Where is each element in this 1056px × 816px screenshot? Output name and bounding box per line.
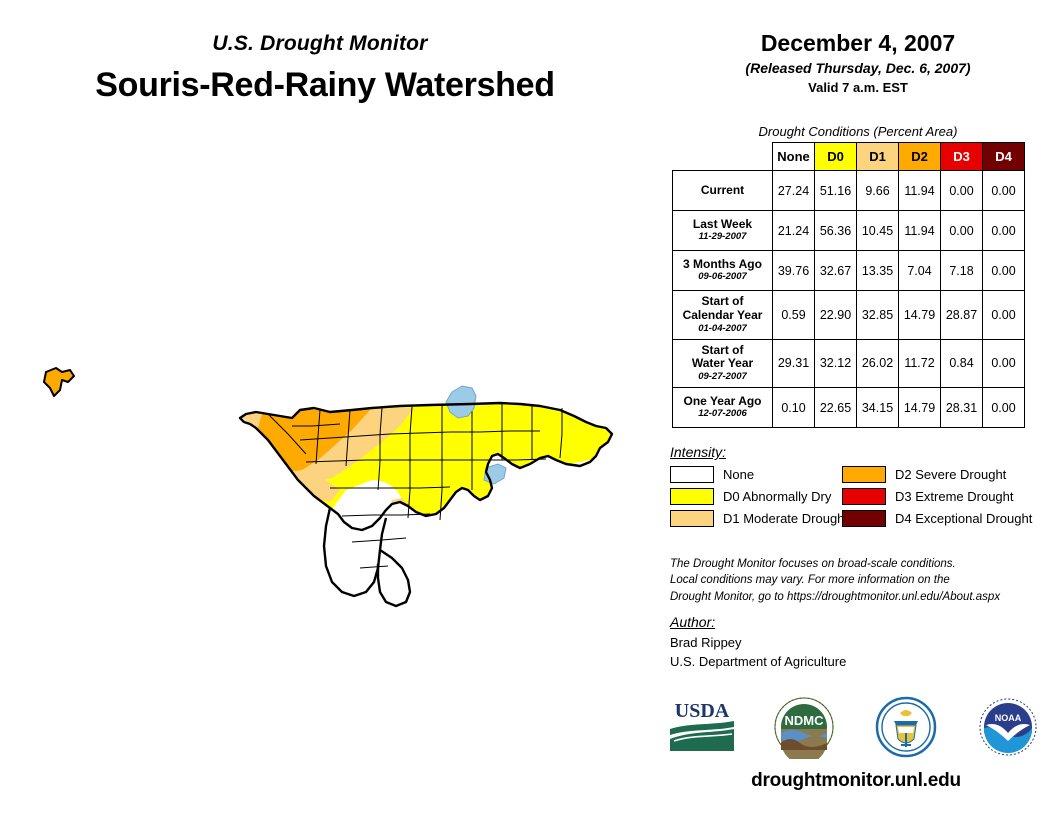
disclaimer: The Drought Monitor focuses on broad-sca…: [670, 556, 1056, 605]
table-col-header-d4: D4: [983, 143, 1025, 171]
table-col-header-d2: D2: [899, 143, 941, 171]
site-url: droughtmonitor.unl.edu: [660, 770, 1052, 792]
table-header-row: NoneD0D1D2D3D4: [673, 143, 1025, 171]
table-row: Start ofWater Year09-27-200729.3132.1226…: [673, 339, 1025, 388]
table-cell-d2: 14.79: [899, 291, 941, 340]
table-row: Current27.2451.169.6611.940.000.00: [673, 171, 1025, 211]
legend-label-d2: D2 Severe Drought: [895, 467, 1006, 482]
table-cell-d4: 0.00: [983, 211, 1025, 251]
usda-logo: USDA: [666, 695, 738, 759]
author-affiliation: U.S. Department of Agriculture: [670, 653, 1056, 672]
intensity-legend: Intensity: None D2 Severe Drought D0 Abn…: [670, 444, 1050, 527]
table-cell-none: 21.24: [773, 211, 815, 251]
table-cell-d3: 7.18: [941, 251, 983, 291]
author-name: Brad Rippey: [670, 634, 1056, 653]
legend-item-d4: D4 Exceptional Drought: [842, 510, 1050, 527]
logo-row: USDA NDMC: [660, 694, 1050, 760]
table-cell-d3: 28.87: [941, 291, 983, 340]
table-cell-d2: 11.94: [899, 211, 941, 251]
legend-label-d3: D3 Extreme Drought: [895, 489, 1014, 504]
date-block: December 4, 2007 (Released Thursday, Dec…: [668, 30, 1048, 95]
legend-item-none: None: [670, 466, 842, 483]
legend-swatch-d1: [670, 510, 714, 527]
legend-swatch-d4: [842, 510, 886, 527]
table-row-label: Current: [673, 171, 773, 211]
legend-item-d1: D1 Moderate Drought: [670, 510, 842, 527]
svg-text:USDA: USDA: [675, 700, 730, 722]
release-date: (Released Thursday, Dec. 6, 2007): [668, 60, 1048, 76]
valid-date: December 4, 2007: [668, 30, 1048, 57]
legend-swatch-d0: [670, 488, 714, 505]
table-row-label: Start ofCalendar Year01-04-2007: [673, 291, 773, 340]
table-row: 3 Months Ago09-06-200739.7632.6713.357.0…: [673, 251, 1025, 291]
disclaimer-line-3: Drought Monitor, go to https://droughtmo…: [670, 589, 1056, 605]
svg-text:NDMC: NDMC: [785, 713, 825, 728]
usdc-seal: [870, 695, 942, 759]
disclaimer-line-2: Local conditions may vary. For more info…: [670, 572, 1056, 588]
table-row-label: One Year Ago12-07-2006: [673, 388, 773, 428]
table-row-date: 01-04-2007: [678, 324, 767, 335]
page-title: Souris-Red-Rainy Watershed: [0, 66, 650, 105]
legend-grid: None D2 Severe Drought D0 Abnormally Dry…: [670, 466, 1050, 527]
legend-item-d2: D2 Severe Drought: [842, 466, 1050, 483]
table-corner-cell: [673, 143, 773, 171]
table-cell-d4: 0.00: [983, 291, 1025, 340]
table-cell-d4: 0.00: [983, 339, 1025, 388]
legend-label-d4: D4 Exceptional Drought: [895, 511, 1032, 526]
table-cell-none: 0.59: [773, 291, 815, 340]
table-row: Last Week11-29-200721.2456.3610.4511.940…: [673, 211, 1025, 251]
table-cell-d0: 51.16: [815, 171, 857, 211]
table-cell-none: 29.31: [773, 339, 815, 388]
table-cell-d1: 9.66: [857, 171, 899, 211]
table-col-header-d1: D1: [857, 143, 899, 171]
table-cell-none: 0.10: [773, 388, 815, 428]
table-row: One Year Ago12-07-20060.1022.6534.1514.7…: [673, 388, 1025, 428]
table-cell-d3: 0.00: [941, 171, 983, 211]
map-svg: [0, 330, 660, 610]
table-cell-d2: 11.72: [899, 339, 941, 388]
ndmc-logo: NDMC: [768, 695, 840, 759]
program-title: U.S. Drought Monitor: [0, 32, 640, 56]
table-cell-d1: 26.02: [857, 339, 899, 388]
table-cell-d3: 28.31: [941, 388, 983, 428]
legend-label-none: None: [723, 467, 754, 482]
table-cell-d0: 32.12: [815, 339, 857, 388]
table-row-date: 09-27-2007: [678, 372, 767, 383]
table-cell-d3: 0.84: [941, 339, 983, 388]
legend-label-d1: D1 Moderate Drought: [723, 511, 848, 526]
table-row: Start ofCalendar Year01-04-20070.5922.90…: [673, 291, 1025, 340]
svg-text:NOAA: NOAA: [995, 713, 1022, 723]
table-row-date: 11-29-2007: [678, 232, 767, 243]
disclaimer-line-1: The Drought Monitor focuses on broad-sca…: [670, 556, 1056, 572]
author-heading: Author:: [670, 614, 1056, 630]
legend-swatch-none: [670, 466, 714, 483]
table-cell-d1: 10.45: [857, 211, 899, 251]
legend-item-d3: D3 Extreme Drought: [842, 488, 1050, 505]
noaa-logo: NOAA: [972, 695, 1044, 759]
table-row-date: 09-06-2007: [678, 272, 767, 283]
table-row-date: 12-07-2006: [678, 409, 767, 420]
table-cell-d2: 11.94: [899, 171, 941, 211]
table-row-label: Start ofWater Year09-27-2007: [673, 339, 773, 388]
legend-label-d0: D0 Abnormally Dry: [723, 489, 831, 504]
legend-swatch-d2: [842, 466, 886, 483]
table-cell-d2: 14.79: [899, 388, 941, 428]
table-row-label: 3 Months Ago09-06-2007: [673, 251, 773, 291]
intensity-heading: Intensity:: [670, 444, 1050, 460]
table-cell-d0: 32.67: [815, 251, 857, 291]
table-cell-d1: 13.35: [857, 251, 899, 291]
table-cell-d1: 32.85: [857, 291, 899, 340]
table-cell-none: 27.24: [773, 171, 815, 211]
legend-swatch-d3: [842, 488, 886, 505]
table-cell-d4: 0.00: [983, 388, 1025, 428]
table-cell-d4: 0.00: [983, 171, 1025, 211]
table-caption: Drought Conditions (Percent Area): [668, 124, 1048, 139]
table-cell-d2: 7.04: [899, 251, 941, 291]
drought-conditions-table: NoneD0D1D2D3D4 Current27.2451.169.6611.9…: [672, 142, 1025, 428]
table-body: Current27.2451.169.6611.940.000.00Last W…: [673, 171, 1025, 428]
table-cell-d1: 34.15: [857, 388, 899, 428]
table-cell-d4: 0.00: [983, 251, 1025, 291]
table-col-header-d0: D0: [815, 143, 857, 171]
table-cell-none: 39.76: [773, 251, 815, 291]
table-cell-d0: 22.90: [815, 291, 857, 340]
table-cell-d3: 0.00: [941, 211, 983, 251]
table-col-header-none: None: [773, 143, 815, 171]
legend-item-d0: D0 Abnormally Dry: [670, 488, 842, 505]
table-cell-d0: 22.65: [815, 388, 857, 428]
author-section: Author: Brad Rippey U.S. Department of A…: [670, 614, 1056, 672]
table-row-label: Last Week11-29-2007: [673, 211, 773, 251]
table-col-header-d3: D3: [941, 143, 983, 171]
table-cell-d0: 56.36: [815, 211, 857, 251]
valid-time: Valid 7 a.m. EST: [668, 80, 1048, 95]
drought-map: [0, 330, 660, 610]
